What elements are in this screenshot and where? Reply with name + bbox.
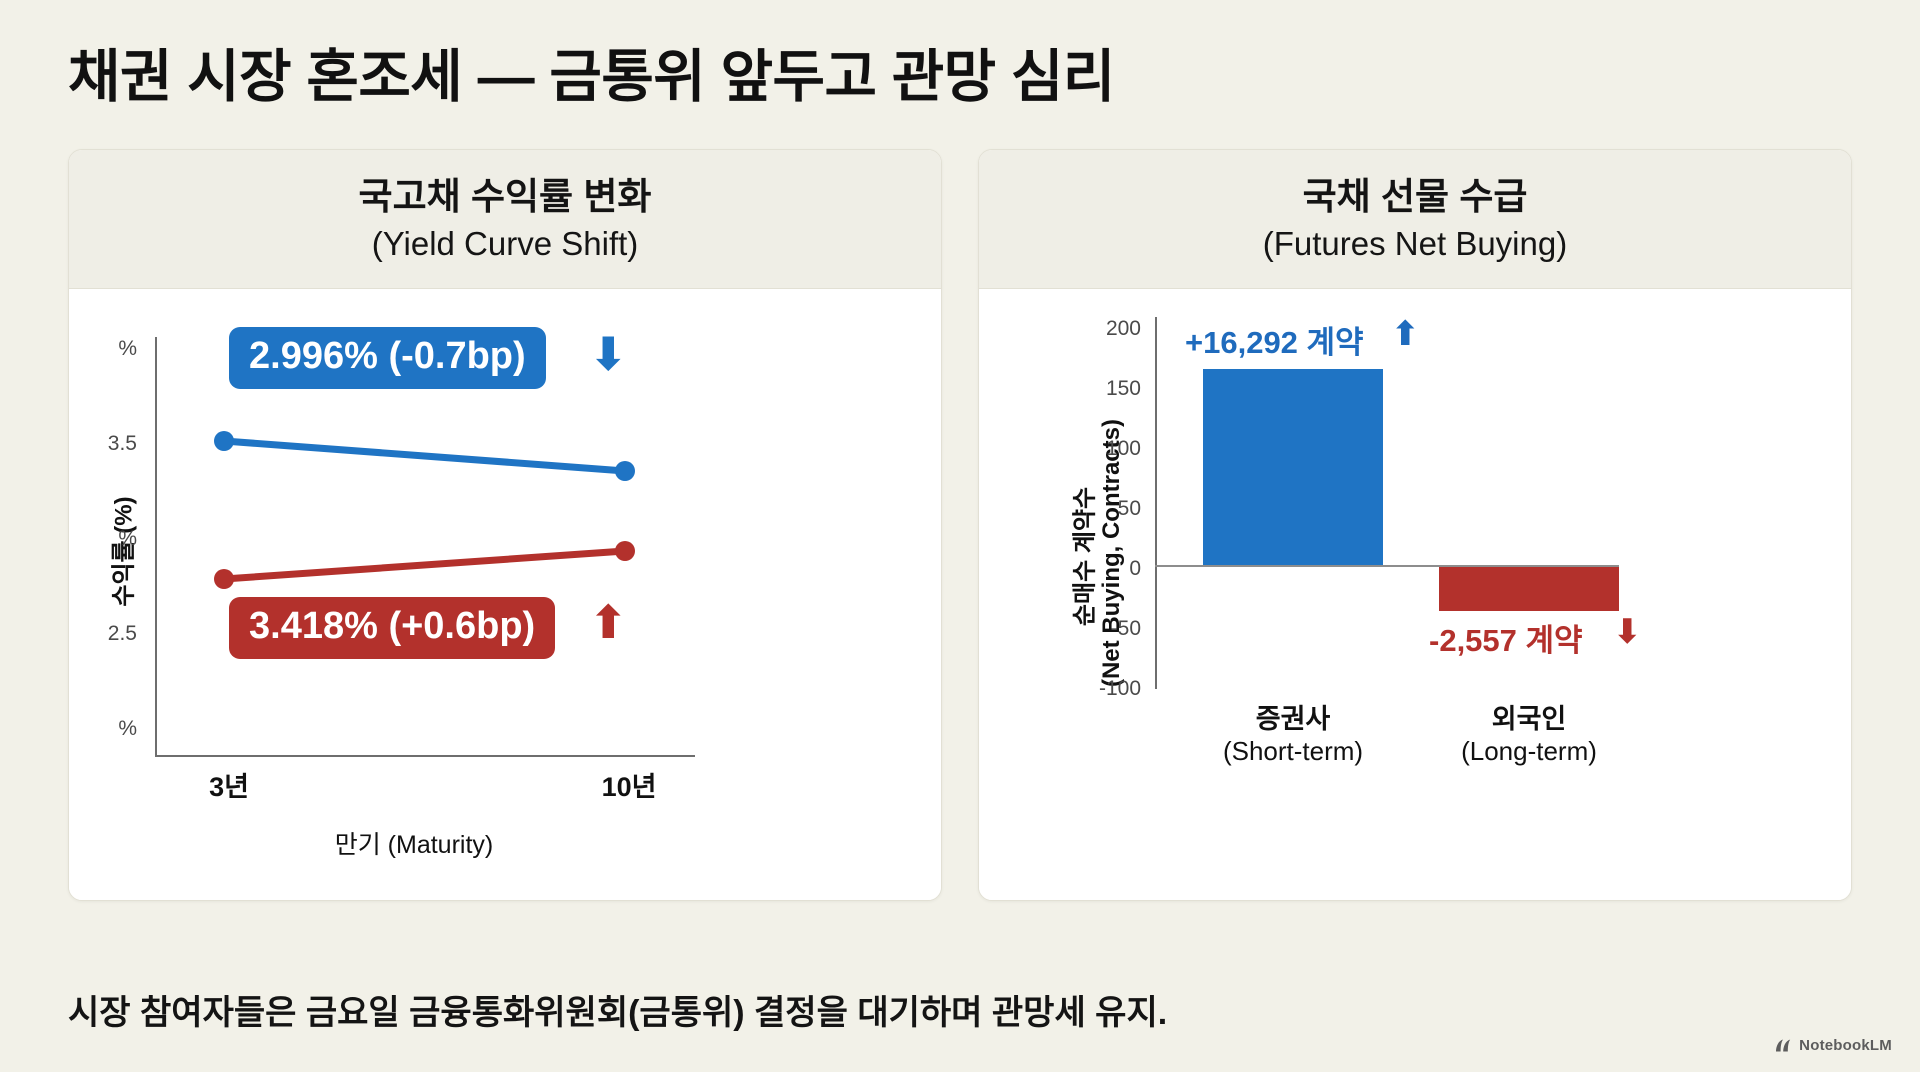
- bar-value-securities: +16,292 계약: [1185, 327, 1364, 358]
- bar-value-foreign: -2,557 계약: [1429, 625, 1583, 656]
- bar-foreign-investors: [1439, 567, 1619, 611]
- red-point-10y: [615, 541, 635, 561]
- panel-title-en: (Yield Curve Shift): [87, 223, 923, 266]
- category-en-foreign: (Long-term): [1419, 735, 1639, 768]
- annotation-badge-red: 3.418% (+0.6bp): [229, 597, 555, 659]
- futures-bar-chart: 순매수 계약수 (Net Buying, Contracts) 200 150 …: [979, 289, 1851, 900]
- notebooklm-logo-icon: [1775, 1038, 1792, 1053]
- watermark: NotebookLM: [1775, 1037, 1892, 1054]
- blue-point-3y: [214, 431, 234, 451]
- panel-header-yield-curve: 국고채 수익률 변화 (Yield Curve Shift): [69, 150, 941, 289]
- panel-yield-curve: 국고채 수익률 변화 (Yield Curve Shift) 수익률 (%) %…: [68, 149, 942, 901]
- category-label-securities: 증권사 (Short-term): [1183, 703, 1403, 768]
- watermark-label: NotebookLM: [1799, 1037, 1892, 1054]
- red-point-3y: [214, 569, 234, 589]
- panel-title-ko-futures: 국채 선물 수급: [997, 174, 1833, 220]
- footer-note: 시장 참여자들은 금요일 금융통화위원회(금통위) 결정을 대기하며 관망세 유…: [68, 985, 1167, 1034]
- panel-title-ko: 국고채 수익률 변화: [87, 174, 923, 220]
- y-tick-neg50: -50: [1085, 617, 1141, 641]
- panel-header-futures: 국채 선물 수급 (Futures Net Buying): [979, 150, 1851, 289]
- panels-row: 국고채 수익률 변화 (Yield Curve Shift) 수익률 (%) %…: [0, 111, 1920, 901]
- arrow-down-icon: ⬇: [589, 331, 628, 377]
- bar-securities-firms: [1203, 369, 1383, 565]
- x-tick-3y: 3년: [169, 771, 289, 803]
- x-tick-10y-label: 10년: [559, 771, 699, 803]
- red-series-line: [224, 551, 625, 579]
- category-ko-securities: 증권사: [1183, 703, 1403, 735]
- y-axis-spine-futures: [1155, 317, 1157, 689]
- y-tick-100: 100: [1085, 437, 1141, 461]
- y-tick-200: 200: [1085, 317, 1141, 341]
- bar-arrow-up-icon: ⬆: [1391, 317, 1420, 351]
- category-ko-foreign: 외국인: [1419, 703, 1639, 735]
- page-title: 채권 시장 혼조세 — 금통위 앞두고 관망 심리: [0, 0, 1920, 111]
- yield-curve-chart: 수익률 (%) % 3.5 % 2.5 %: [69, 289, 941, 900]
- x-tick-3y-label: 3년: [169, 771, 289, 803]
- bar-arrow-down-icon: ⬇: [1613, 615, 1642, 649]
- panel-title-en-futures: (Futures Net Buying): [997, 223, 1833, 266]
- x-axis-title-yield: 만기 (Maturity): [69, 825, 759, 861]
- panel-futures-net-buying: 국채 선물 수급 (Futures Net Buying) 순매수 계약수 (N…: [978, 149, 1852, 901]
- arrow-up-icon: ⬆: [589, 599, 628, 645]
- y-tick-150: 150: [1085, 377, 1141, 401]
- category-en-securities: (Short-term): [1183, 735, 1403, 768]
- x-tick-10y: 10년: [559, 771, 699, 803]
- annotation-badge-blue: 2.996% (-0.7bp): [229, 327, 546, 389]
- category-label-foreign: 외국인 (Long-term): [1419, 703, 1639, 768]
- y-tick-0: 0: [1085, 557, 1141, 581]
- blue-series-line: [224, 441, 625, 471]
- y-tick-50: 50: [1085, 497, 1141, 521]
- blue-point-10y: [615, 461, 635, 481]
- panel-body-yield-curve: 수익률 (%) % 3.5 % 2.5 %: [69, 289, 941, 900]
- y-tick-neg100: -100: [1081, 677, 1141, 701]
- panel-body-futures: 순매수 계약수 (Net Buying, Contracts) 200 150 …: [979, 289, 1851, 900]
